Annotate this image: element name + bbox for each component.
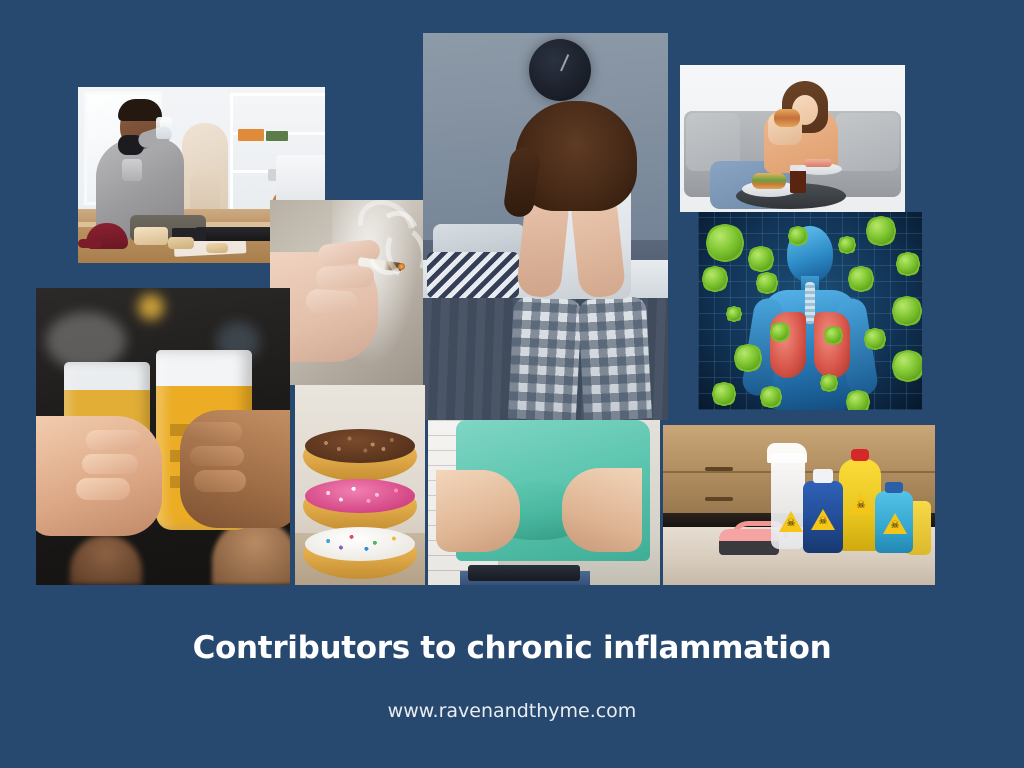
- belt: [468, 565, 580, 581]
- bottle-cap: [851, 449, 869, 461]
- donut-pink: [303, 481, 417, 531]
- virus-particle-icon: [850, 268, 872, 290]
- finger: [76, 478, 130, 500]
- scrub-brush: [719, 529, 779, 555]
- bar-scene: [36, 288, 290, 585]
- wall-clock-icon: [529, 39, 591, 101]
- burger-on-plate: [752, 173, 786, 189]
- virus-particle-icon: [894, 352, 922, 380]
- virus-particle-icon: [866, 330, 884, 348]
- hand-left: [436, 470, 520, 552]
- hazard-skull-icon: [811, 509, 835, 530]
- burger: [774, 109, 800, 127]
- virus-particle-icon: [704, 268, 726, 290]
- page-title: Contributors to chronic inflammation: [0, 630, 1024, 666]
- virus-particle-icon: [840, 238, 854, 252]
- collage-canvas: Man at desk drinking and eating junk foo…: [0, 0, 1024, 768]
- hoodie-strings: [122, 159, 142, 181]
- donut-chocolate: [303, 431, 417, 481]
- virus-particle-icon: [736, 346, 760, 370]
- virus-particle-icon: [790, 228, 806, 244]
- virus-particle-icon: [762, 388, 780, 406]
- pajama-leg: [508, 296, 582, 420]
- virus-particle-icon: [714, 384, 734, 404]
- virus-particle-icon: [728, 308, 740, 320]
- virus-particle-icon: [822, 376, 836, 390]
- photo-sugar-donuts: Stack of three frosted donuts with sprin…: [295, 385, 425, 585]
- bokeh-light: [138, 294, 164, 320]
- drink-cup: [156, 117, 172, 139]
- finger: [186, 422, 242, 442]
- virus-particle-icon: [750, 248, 772, 270]
- finger: [316, 265, 375, 289]
- finger: [190, 446, 244, 466]
- photo-couch-fast-food: Woman on a sofa eating a burger with sod…: [680, 65, 905, 212]
- chevron-cushion: [427, 252, 519, 298]
- shelf-box-green: [266, 131, 288, 141]
- lung-right: [814, 312, 850, 378]
- finger: [305, 288, 359, 316]
- junk-food-item: [206, 243, 228, 253]
- belly-scene: [428, 420, 660, 585]
- virus-particle-icon: [868, 218, 894, 244]
- donuts-scene: [295, 385, 425, 585]
- photo-alcohol-beer: Two hands toasting with pints of beer: [36, 288, 290, 585]
- shelf-box-orange: [238, 129, 264, 141]
- virus-particle-icon: [708, 226, 742, 260]
- hand-right: [180, 410, 290, 528]
- donut-white: [303, 529, 417, 579]
- soda-glass: [790, 165, 806, 193]
- pajama-leg: [578, 296, 652, 420]
- virus-particle-icon: [898, 254, 918, 274]
- donut-sprinkles: [307, 529, 413, 559]
- kitchen-scene: [663, 425, 935, 585]
- virus-particle-icon: [848, 392, 868, 410]
- woman-curly-hair: [515, 101, 637, 211]
- donut-sprinkles: [307, 431, 413, 461]
- hazard-skull-icon: [779, 511, 803, 532]
- donut-sprinkles: [307, 481, 413, 511]
- living-room-scene: [680, 65, 905, 212]
- junk-food-item: [168, 237, 194, 249]
- virus-illustration-scene: [698, 212, 922, 410]
- finger: [194, 470, 246, 492]
- bedroom-scene: [423, 33, 668, 420]
- smoking-scene: [270, 200, 426, 385]
- keyboard: [196, 227, 274, 241]
- virus-particle-icon: [772, 324, 788, 340]
- hand-left: [36, 416, 162, 536]
- photo-stress-insomnia: Woman sitting on bed with head in hands …: [423, 33, 668, 420]
- virus-particle-icon: [758, 274, 776, 292]
- photo-smoking: Hand holding a lit cigarette with smoke: [270, 200, 426, 385]
- lung-left: [770, 312, 806, 378]
- cabinet-handle: [705, 497, 733, 501]
- cabinet-handle: [705, 467, 733, 471]
- photo-infection-virus: Blue human figure with red lungs surroun…: [698, 212, 922, 410]
- sofa-cushion: [835, 113, 899, 171]
- bottle-cap: [885, 482, 903, 493]
- photo-belly-fat: Person in teal shirt holding abdominal f…: [428, 420, 660, 585]
- hand-right: [562, 468, 642, 552]
- hazard-skull-icon: [849, 493, 873, 514]
- website-url: www.ravenandthyme.com: [0, 700, 1024, 722]
- junk-food-item: [134, 227, 168, 245]
- finger: [82, 454, 138, 474]
- food-on-plate: [804, 159, 832, 167]
- spray-bottle: [771, 453, 805, 549]
- hazard-skull-icon: [883, 513, 907, 534]
- virus-particle-icon: [826, 328, 841, 343]
- mannequin-statue: [182, 123, 228, 219]
- virus-particle-icon: [894, 298, 920, 324]
- finger: [86, 430, 142, 450]
- photo-toxic-chemicals: Cleaning bottles with skull and crossbon…: [663, 425, 935, 585]
- bottle-cap: [813, 469, 833, 483]
